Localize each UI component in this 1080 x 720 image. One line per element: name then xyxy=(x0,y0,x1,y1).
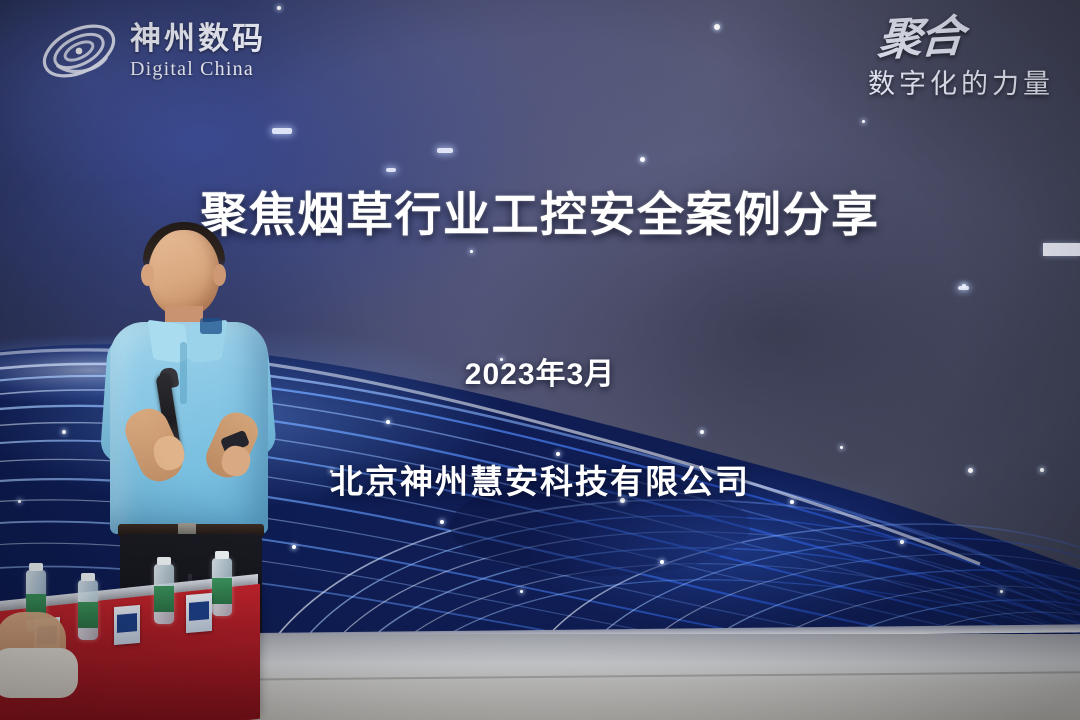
speaker-ear-left xyxy=(141,264,154,286)
conference-stage-photo: 神州数码 Digital China 聚合 数字化的力量 聚焦烟草行业工控安全案… xyxy=(0,0,1080,720)
brand-logo: 神州数码 Digital China xyxy=(38,18,266,84)
brand-logo-en: Digital China xyxy=(130,59,266,79)
slogan-calligraphy: 聚合 xyxy=(876,16,963,62)
brand-logo-cn: 神州数码 xyxy=(130,23,266,54)
speaker-head xyxy=(148,230,220,316)
name-card xyxy=(114,605,140,645)
screen-edge-highlight xyxy=(1043,243,1080,256)
swirl-spiral-logo-icon xyxy=(38,18,120,84)
speaker-shirt-logo xyxy=(200,318,222,334)
name-card xyxy=(186,593,212,633)
speaker-ear-right xyxy=(213,264,226,286)
water-bottle xyxy=(212,558,232,616)
speaker-shirt-placket xyxy=(180,342,187,404)
slogan-subtitle: 数字化的力量 xyxy=(868,62,1054,101)
table-papers xyxy=(0,648,78,698)
water-bottle xyxy=(78,580,98,640)
water-bottle xyxy=(154,564,174,624)
event-slogan: 聚合 数字化的力量 xyxy=(868,18,1054,101)
